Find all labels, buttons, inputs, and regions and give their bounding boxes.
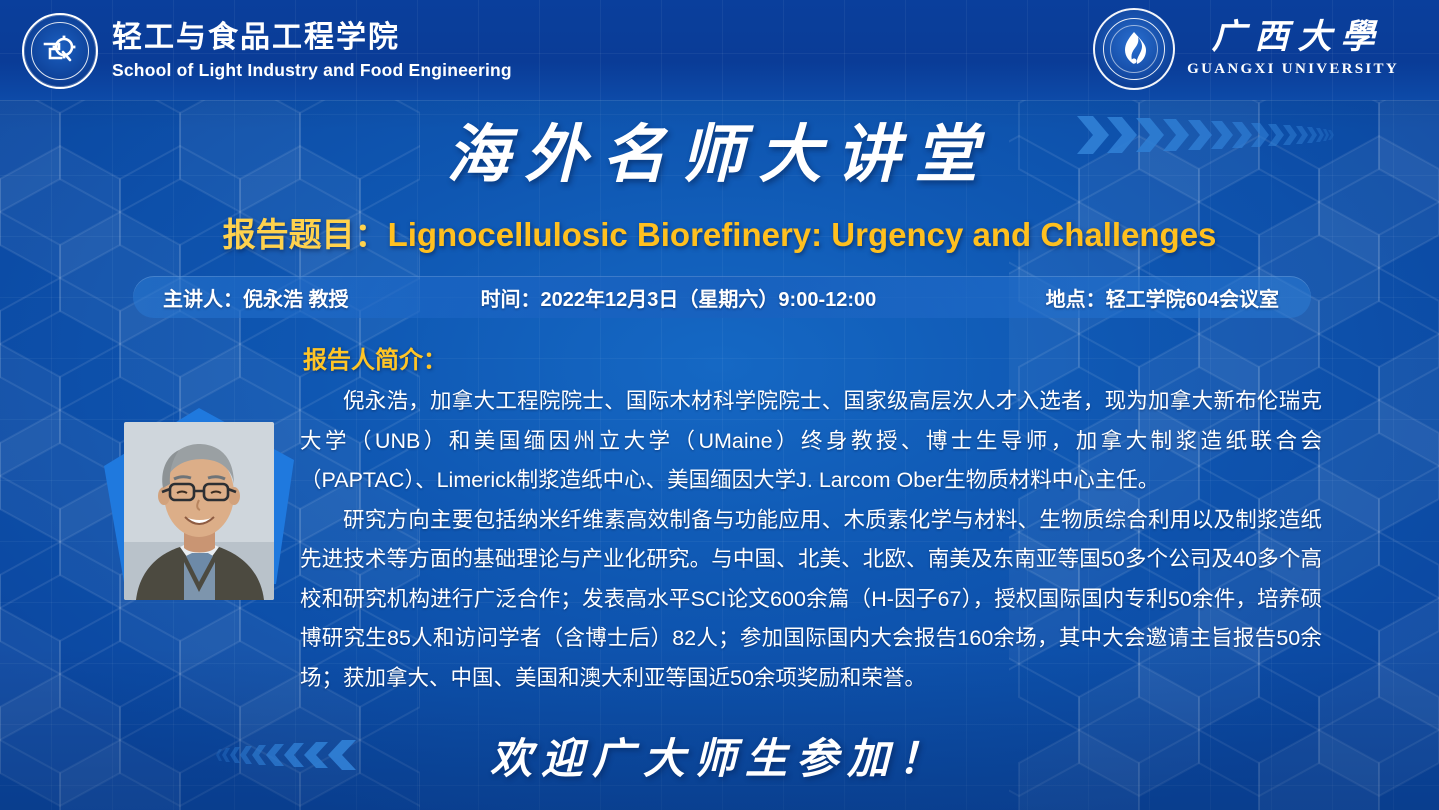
subject-label: 报告题目： <box>223 216 388 253</box>
portrait-photo <box>124 422 274 600</box>
subject-value: Lignocellulosic Biorefinery: Urgency and… <box>388 216 1217 253</box>
bio-heading: 报告人简介： <box>303 340 447 375</box>
university-brand: 广西大學 GUANGXI UNIVERSITY <box>1093 8 1399 90</box>
location-info: 地点：轻工学院604会议室 <box>1046 283 1279 312</box>
lecture-info-bar: 主讲人：倪永浩 教授 时间：2022年12月3日（星期六）9:00-12:00 … <box>133 276 1311 318</box>
time-info: 时间：2022年12月3日（星期六）9:00-12:00 <box>481 283 877 312</box>
bio-paragraph-1: 倪永浩，加拿大工程院院士、国际木材科学院院士、国家级高层次人才入选者，现为加拿大… <box>300 382 1322 501</box>
school-name-cn: 轻工与食品工程学院 <box>112 23 512 53</box>
speaker-info: 主讲人：倪永浩 教授 <box>163 283 349 312</box>
page-header: 轻工与食品工程学院 School of Light Industry and F… <box>0 0 1439 100</box>
speaker-portrait <box>104 408 294 608</box>
lecture-subject: 报告题目：Lignocellulosic Biorefinery: Urgenc… <box>0 208 1439 256</box>
welcome-message: 欢迎广大师生参加！ <box>0 725 1439 786</box>
bio-paragraph-2: 研究方向主要包括纳米纤维素高效制备与功能应用、木质素化学与材料、生物质综合利用以… <box>300 501 1322 699</box>
school-name-en: School of Light Industry and Food Engine… <box>112 62 512 80</box>
school-brand: 轻工与食品工程学院 School of Light Industry and F… <box>22 13 512 89</box>
university-name-en: GUANGXI UNIVERSITY <box>1187 62 1399 77</box>
university-name-cn: 广西大學 <box>1203 21 1384 55</box>
page-title: 海外名师大讲堂 <box>0 104 1439 195</box>
bio-paragraphs: 倪永浩，加拿大工程院院士、国际木材科学院院士、国家级高层次人才入选者，现为加拿大… <box>300 382 1322 698</box>
poster-canvas: 轻工与食品工程学院 School of Light Industry and F… <box>0 0 1439 810</box>
school-seal-icon <box>22 13 98 89</box>
guangxi-university-seal-icon <box>1093 8 1175 90</box>
